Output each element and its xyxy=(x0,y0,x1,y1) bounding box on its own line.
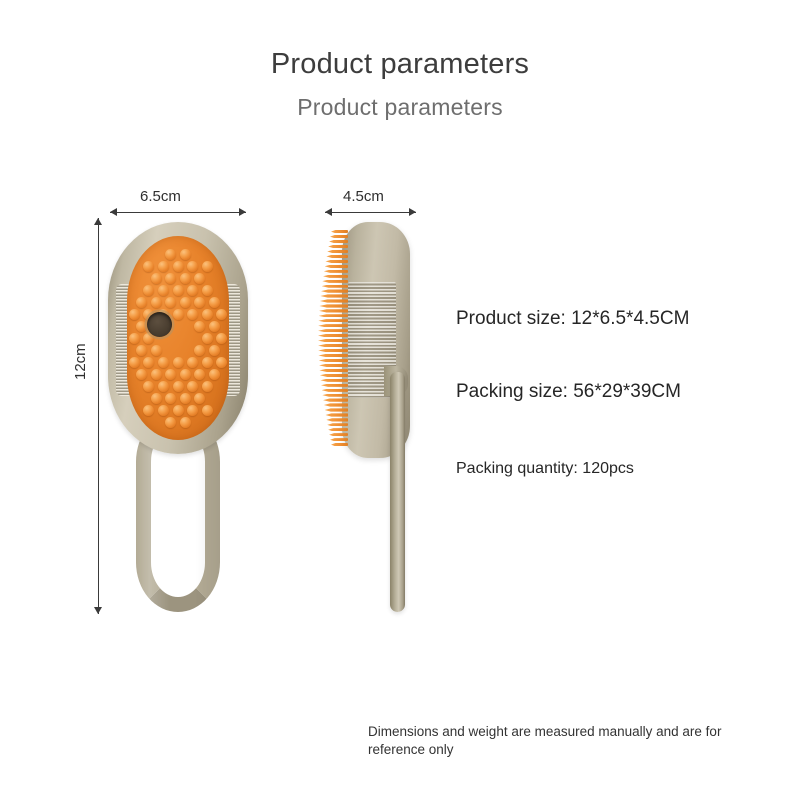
silicone-nub xyxy=(216,333,227,344)
product-side-view xyxy=(316,222,426,618)
bristle-tuft xyxy=(318,339,348,342)
product-front-view xyxy=(108,222,248,618)
silicone-nub xyxy=(158,285,169,296)
bristle-tuft xyxy=(323,398,348,401)
dimension-label-side-width: 4.5cm xyxy=(343,188,384,205)
silicone-nub xyxy=(151,345,162,356)
dimension-arrow-front-width xyxy=(110,208,246,217)
silicone-nub xyxy=(129,357,140,368)
arrow-line xyxy=(325,212,416,213)
silicone-nub xyxy=(158,261,169,272)
footer-disclaimer: Dimensions and weight are measured manua… xyxy=(368,723,778,759)
silicone-nub xyxy=(209,369,220,380)
bristle-tuft xyxy=(329,240,348,243)
bristle-tuft xyxy=(326,255,348,258)
silicone-nub xyxy=(129,333,140,344)
dimension-arrow-height xyxy=(94,218,103,614)
silicone-nub xyxy=(209,321,220,332)
bristle-tuft xyxy=(320,379,348,382)
silicone-nub xyxy=(173,261,184,272)
dimension-label-front-width: 6.5cm xyxy=(140,188,181,205)
bristle-tuft xyxy=(329,433,348,436)
silicone-nub xyxy=(173,357,184,368)
silicone-nub xyxy=(180,273,191,284)
bristle-tuft xyxy=(319,364,348,367)
bristle-tuft xyxy=(321,384,348,387)
silicone-nub xyxy=(180,369,191,380)
arrow-head-left-icon xyxy=(325,208,332,216)
silicone-nub xyxy=(187,381,198,392)
bristle-tuft xyxy=(323,275,348,278)
arrow-line xyxy=(110,212,246,213)
silicone-nub xyxy=(143,357,154,368)
silicone-nub xyxy=(216,357,227,368)
bristle-tuft xyxy=(318,344,348,347)
bristle-tuft xyxy=(319,314,348,317)
bristle-tuft xyxy=(327,423,348,426)
bristle-tuft xyxy=(318,354,348,357)
bristle-tuft xyxy=(319,359,348,362)
silicone-nub xyxy=(143,405,154,416)
silicone-nub xyxy=(173,381,184,392)
silicone-nub xyxy=(202,261,213,272)
bristle-tuft xyxy=(322,280,348,283)
silicone-nub xyxy=(173,405,184,416)
silicone-nub xyxy=(173,285,184,296)
silicone-nub xyxy=(151,369,162,380)
silicone-nub xyxy=(143,285,154,296)
bristle-tuft xyxy=(328,245,348,248)
front-view-silicone-pad xyxy=(127,236,229,440)
silicone-nub xyxy=(165,249,176,260)
arrow-head-left-icon xyxy=(110,208,117,216)
silicone-nub xyxy=(187,285,198,296)
page-title: Product parameters xyxy=(0,48,800,81)
bristle-tuft xyxy=(326,418,348,421)
bristle-tuft xyxy=(318,329,348,332)
bristle-tuft xyxy=(325,265,348,268)
bristle-tuft xyxy=(331,443,348,446)
bristle-tuft xyxy=(325,413,348,416)
silicone-nub xyxy=(158,405,169,416)
side-view-bristles xyxy=(316,230,348,448)
silicone-nub xyxy=(165,417,176,428)
silicone-nub xyxy=(136,345,147,356)
silicone-nub xyxy=(187,357,198,368)
bristle-tuft xyxy=(318,319,348,322)
arrow-line xyxy=(98,218,99,614)
spec-packing-quantity: Packing quantity: 120pcs xyxy=(456,460,634,478)
front-view-center-hole xyxy=(147,312,172,337)
bristle-tuft xyxy=(325,260,348,263)
silicone-nub xyxy=(202,309,213,320)
bristle-tuft xyxy=(324,403,348,406)
silicone-nub xyxy=(194,321,205,332)
silicone-nub xyxy=(209,297,220,308)
bristle-tuft xyxy=(327,250,348,253)
silicone-nub xyxy=(216,309,227,320)
silicone-nub xyxy=(158,381,169,392)
silicone-nub xyxy=(209,345,220,356)
spec-product-size: Product size: 12*6.5*4.5CM xyxy=(456,308,689,330)
silicone-nub xyxy=(136,369,147,380)
arrow-head-right-icon xyxy=(409,208,416,216)
silicone-nub xyxy=(180,393,191,404)
dimension-arrow-side-width xyxy=(325,208,416,217)
silicone-nub xyxy=(129,309,140,320)
silicone-nub xyxy=(165,369,176,380)
silicone-nub xyxy=(202,381,213,392)
silicone-nub xyxy=(194,393,205,404)
silicone-nub xyxy=(173,309,184,320)
silicone-nub xyxy=(187,309,198,320)
silicone-nub xyxy=(194,369,205,380)
bristle-tuft xyxy=(320,294,348,297)
silicone-nub xyxy=(202,405,213,416)
bristle-tuft xyxy=(325,408,348,411)
silicone-nub xyxy=(143,381,154,392)
silicone-nub xyxy=(187,261,198,272)
silicone-nub xyxy=(158,357,169,368)
silicone-nub xyxy=(180,417,191,428)
spec-packing-size: Packing size: 56*29*39CM xyxy=(456,381,681,403)
side-view-handle-arm xyxy=(390,372,405,612)
silicone-nub xyxy=(143,261,154,272)
page-subtitle: Product parameters xyxy=(0,94,800,121)
silicone-nub xyxy=(136,321,147,332)
silicone-nub xyxy=(194,273,205,284)
bristle-tuft xyxy=(318,324,348,327)
silicone-nub xyxy=(202,357,213,368)
silicone-nub xyxy=(151,297,162,308)
arrow-head-up-icon xyxy=(94,218,102,225)
silicone-nub xyxy=(151,273,162,284)
silicone-nub xyxy=(194,297,205,308)
bristle-tuft xyxy=(319,304,348,307)
bristle-tuft xyxy=(328,428,348,431)
dimension-label-height: 12cm xyxy=(72,343,89,380)
arrow-head-down-icon xyxy=(94,607,102,614)
silicone-nub xyxy=(194,345,205,356)
bristle-tuft xyxy=(330,438,348,441)
bristle-tuft xyxy=(320,374,348,377)
silicone-nub xyxy=(136,297,147,308)
bristle-tuft xyxy=(318,334,348,337)
silicone-nub xyxy=(165,297,176,308)
bristle-tuft xyxy=(330,235,348,238)
bristle-tuft xyxy=(319,369,348,372)
bristle-tuft xyxy=(320,299,348,302)
product-parameters-page: Product parameters Product parameters 6.… xyxy=(0,0,800,800)
silicone-nub xyxy=(165,273,176,284)
silicone-nub xyxy=(187,405,198,416)
arrow-head-right-icon xyxy=(239,208,246,216)
bristle-tuft xyxy=(319,309,348,312)
bristle-tuft xyxy=(321,289,348,292)
bristle-tuft xyxy=(324,270,348,273)
silicone-nub xyxy=(165,393,176,404)
bristle-tuft xyxy=(322,285,348,288)
silicone-nub xyxy=(202,285,213,296)
bristle-tuft xyxy=(318,349,348,352)
bristle-tuft xyxy=(322,394,348,397)
silicone-nub xyxy=(180,297,191,308)
silicone-nub xyxy=(202,333,213,344)
bristle-tuft xyxy=(322,389,348,392)
bristle-tuft xyxy=(331,230,348,233)
silicone-nub xyxy=(151,393,162,404)
silicone-nub xyxy=(180,249,191,260)
